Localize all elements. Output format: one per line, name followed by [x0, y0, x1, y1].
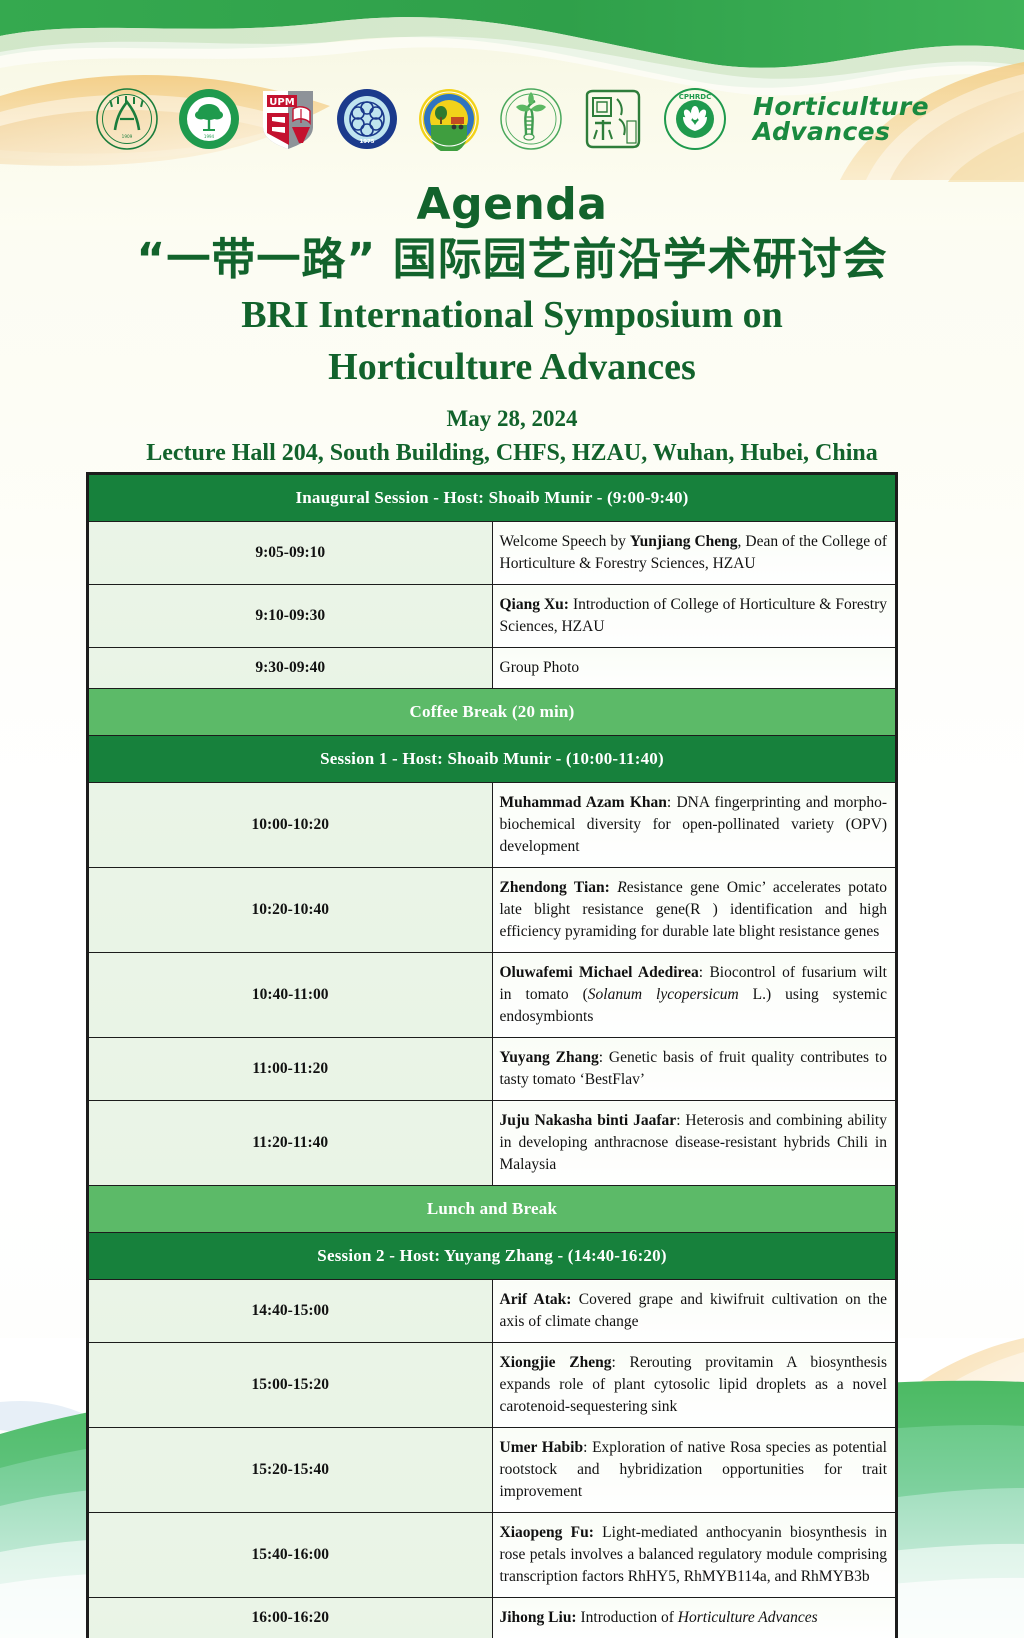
table-row: 15:20-15:40Umer Habib: Exploration of na… [89, 1428, 896, 1513]
hunan-agricultural-university-logo: 1909 [95, 87, 159, 151]
session-description: Xiaopeng Fu: Light-mediated anthocyanin … [492, 1513, 896, 1598]
svg-text:1909: 1909 [122, 134, 133, 139]
session-description: Welcome Speech by Yunjiang Cheng, Dean o… [492, 522, 896, 585]
table-row: 16:00-16:20Jihong Liu: Introduction of H… [89, 1598, 896, 1638]
session-description: Jihong Liu: Introduction of Horticulture… [492, 1598, 896, 1638]
session-time: 9:10-09:30 [89, 585, 493, 648]
title-english-line-2: Horticulture Advances [0, 342, 1024, 392]
session-time: 9:05-09:10 [89, 522, 493, 585]
bursa-uludag-universitesi-logo: 1975 [335, 87, 399, 151]
agenda-band-row: Lunch and Break [89, 1186, 896, 1233]
table-row: 11:00-11:20Yuyang Zhang: Genetic basis o… [89, 1038, 896, 1101]
table-row: 11:20-11:40Juju Nakasha binti Jaafar: He… [89, 1101, 896, 1186]
dna-plant-research-logo [499, 87, 563, 151]
partner-logos-strip: 1909 1994 UPM [0, 78, 1024, 160]
session-time: 9:30-09:40 [89, 648, 493, 689]
wordmark-line-1: Horticulture [753, 94, 929, 119]
agenda-band-row: Coffee Break (20 min) [89, 689, 896, 736]
table-row: 10:20-10:40Zhendong Tian: Resistance gen… [89, 868, 896, 953]
session-description: Xiongjie Zheng: Rerouting provitamin A b… [492, 1343, 896, 1428]
page-title: Agenda [0, 180, 1024, 231]
svg-text:CPHRDC: CPHRDC [679, 93, 711, 101]
title-english-line-1: BRI International Symposium on [0, 290, 1024, 340]
session-time: 16:00-16:20 [89, 1598, 493, 1638]
session-time: 11:00-11:20 [89, 1038, 493, 1101]
svg-text:1994: 1994 [204, 134, 215, 139]
session-time: 14:40-15:00 [89, 1280, 493, 1343]
universiti-putra-malaysia-logo: UPM [259, 87, 317, 151]
horticulture-forestry-college-seal-logo [581, 87, 645, 151]
session-description: Oluwafemi Michael Adedirea: Biocontrol o… [492, 953, 896, 1038]
event-date: May 28, 2024 [0, 406, 1024, 432]
session-time: 15:20-15:40 [89, 1428, 493, 1513]
title-block: Agenda “一带一路” 国际园艺前沿学术研讨会 BRI Internatio… [0, 180, 1024, 467]
session-time: 15:40-16:00 [89, 1513, 493, 1598]
break-band: Coffee Break (20 min) [89, 689, 896, 736]
session-description: Group Photo [492, 648, 896, 689]
table-row: 15:00-15:20Xiongjie Zheng: Rerouting pro… [89, 1343, 896, 1428]
agenda-table-wrapper: Inaugural Session - Host: Shoaib Munir -… [86, 472, 898, 1638]
agenda-band-row: Session 2 - Host: Yuyang Zhang - (14:40-… [89, 1233, 896, 1280]
table-row: 10:00-10:20Muhammad Azam Khan: DNA finge… [89, 783, 896, 868]
session-description: Zhendong Tian: Resistance gene Omic’ acc… [492, 868, 896, 953]
agenda-table-body: Inaugural Session - Host: Shoaib Munir -… [89, 475, 896, 1638]
session-description: Qiang Xu: Introduction of College of Hor… [492, 585, 896, 648]
session-time: 10:40-11:00 [89, 953, 493, 1038]
cphrdc-logo: CPHRDC [663, 87, 727, 151]
federal-college-of-horticulture-ibadan-logo [417, 87, 481, 151]
arid-agriculture-university-rawalpindi-logo: 1994 [177, 87, 241, 151]
session-header-band: Inaugural Session - Host: Shoaib Munir -… [89, 475, 896, 522]
agenda-band-row: Session 1 - Host: Shoaib Munir - (10:00-… [89, 736, 896, 783]
session-description: Juju Nakasha binti Jaafar: Heterosis and… [492, 1101, 896, 1186]
session-time: 10:00-10:20 [89, 783, 493, 868]
agenda-table: Inaugural Session - Host: Shoaib Munir -… [88, 474, 896, 1638]
session-description: Arif Atak: Covered grape and kiwifruit c… [492, 1280, 896, 1343]
table-row: 14:40-15:00Arif Atak: Covered grape and … [89, 1280, 896, 1343]
horticulture-advances-wordmark: Horticulture Advances [753, 94, 929, 144]
session-description: Yuyang Zhang: Genetic basis of fruit qua… [492, 1038, 896, 1101]
session-description: Muhammad Azam Khan: DNA fingerprinting a… [492, 783, 896, 868]
table-row: 15:40-16:00Xiaopeng Fu: Light-mediated a… [89, 1513, 896, 1598]
table-row: 9:10-09:30Qiang Xu: Introduction of Coll… [89, 585, 896, 648]
event-venue: Lecture Hall 204, South Building, CHFS, … [0, 440, 1024, 467]
session-header-band: Session 1 - Host: Shoaib Munir - (10:00-… [89, 736, 896, 783]
agenda-band-row: Inaugural Session - Host: Shoaib Munir -… [89, 475, 896, 522]
break-band: Lunch and Break [89, 1186, 896, 1233]
session-header-band: Session 2 - Host: Yuyang Zhang - (14:40-… [89, 1233, 896, 1280]
session-description: Umer Habib: Exploration of native Rosa s… [492, 1428, 896, 1513]
table-row: 9:30-09:40Group Photo [89, 648, 896, 689]
title-chinese: “一带一路” 国际园艺前沿学术研讨会 [0, 231, 1024, 288]
table-row: 9:05-09:10Welcome Speech by Yunjiang Che… [89, 522, 896, 585]
svg-text:1975: 1975 [360, 139, 375, 145]
table-row: 10:40-11:00Oluwafemi Michael Adedirea: B… [89, 953, 896, 1038]
session-time: 15:00-15:20 [89, 1343, 493, 1428]
poster-page: 1909 1994 UPM [0, 0, 1024, 1638]
svg-text:UPM: UPM [269, 97, 294, 108]
session-time: 10:20-10:40 [89, 868, 493, 953]
wordmark-line-2: Advances [753, 119, 929, 144]
session-time: 11:20-11:40 [89, 1101, 493, 1186]
